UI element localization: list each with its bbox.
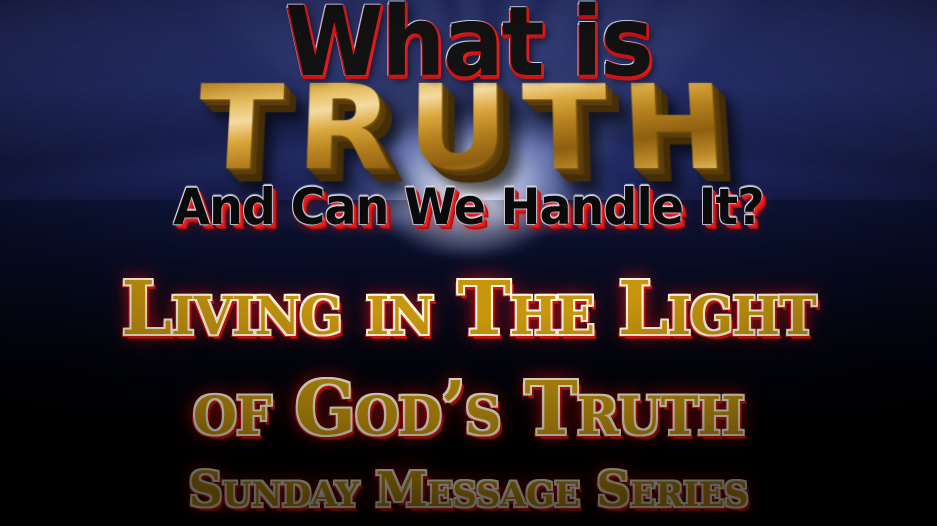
subtitle-handle-it: And Can We Handle It?: [23, 182, 913, 232]
series-title-line-1: Living in The Light: [14, 266, 923, 352]
series-label: Sunday Message Series: [9, 462, 927, 518]
headline-what-is: What is: [33, 0, 904, 90]
sermon-title-slide: TRUTH What is And Can We Handle It? Livi…: [0, 0, 937, 526]
series-title-line-2: of God’s Truth: [14, 366, 923, 452]
